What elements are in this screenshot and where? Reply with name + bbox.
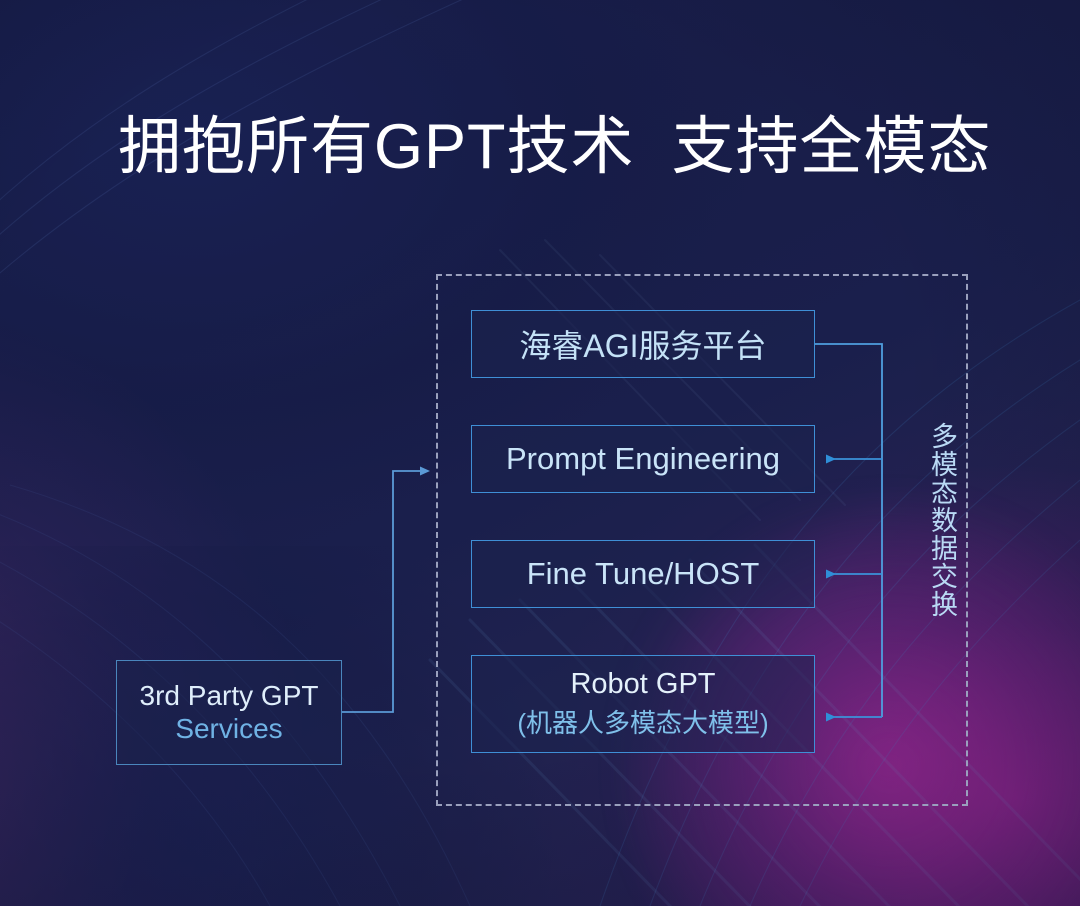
node-third-party-gpt-services[interactable]: 3rd Party GPT Services (116, 660, 342, 765)
node-prompt-engineering[interactable]: Prompt Engineering (471, 425, 815, 493)
node-robot-gpt[interactable]: Robot GPT (机器人多模态大模型) (471, 655, 815, 753)
vertical-label-multimodal-data-exchange: 多模态数据交换 (916, 422, 956, 618)
node-third-party-label: 3rd Party GPT (140, 680, 319, 712)
page-title: 拥抱所有GPT技术 支持全模态 (118, 110, 992, 184)
node-robot-gpt-label: Robot GPT (570, 668, 715, 701)
node-fine-tune-host-label: Fine Tune/HOST (527, 556, 760, 592)
node-agi-platform[interactable]: 海睿AGI服务平台 (471, 310, 815, 378)
node-prompt-engineering-label: Prompt Engineering (506, 441, 780, 477)
slide-canvas: 拥抱所有GPT技术 支持全模态 海睿AGI服务平台 P (0, 0, 1080, 906)
node-agi-platform-label: 海睿AGI服务平台 (519, 321, 766, 367)
node-fine-tune-host[interactable]: Fine Tune/HOST (471, 540, 815, 608)
node-robot-gpt-sublabel: (机器人多模态大模型) (517, 703, 768, 740)
node-third-party-sublabel: Services (175, 713, 282, 745)
